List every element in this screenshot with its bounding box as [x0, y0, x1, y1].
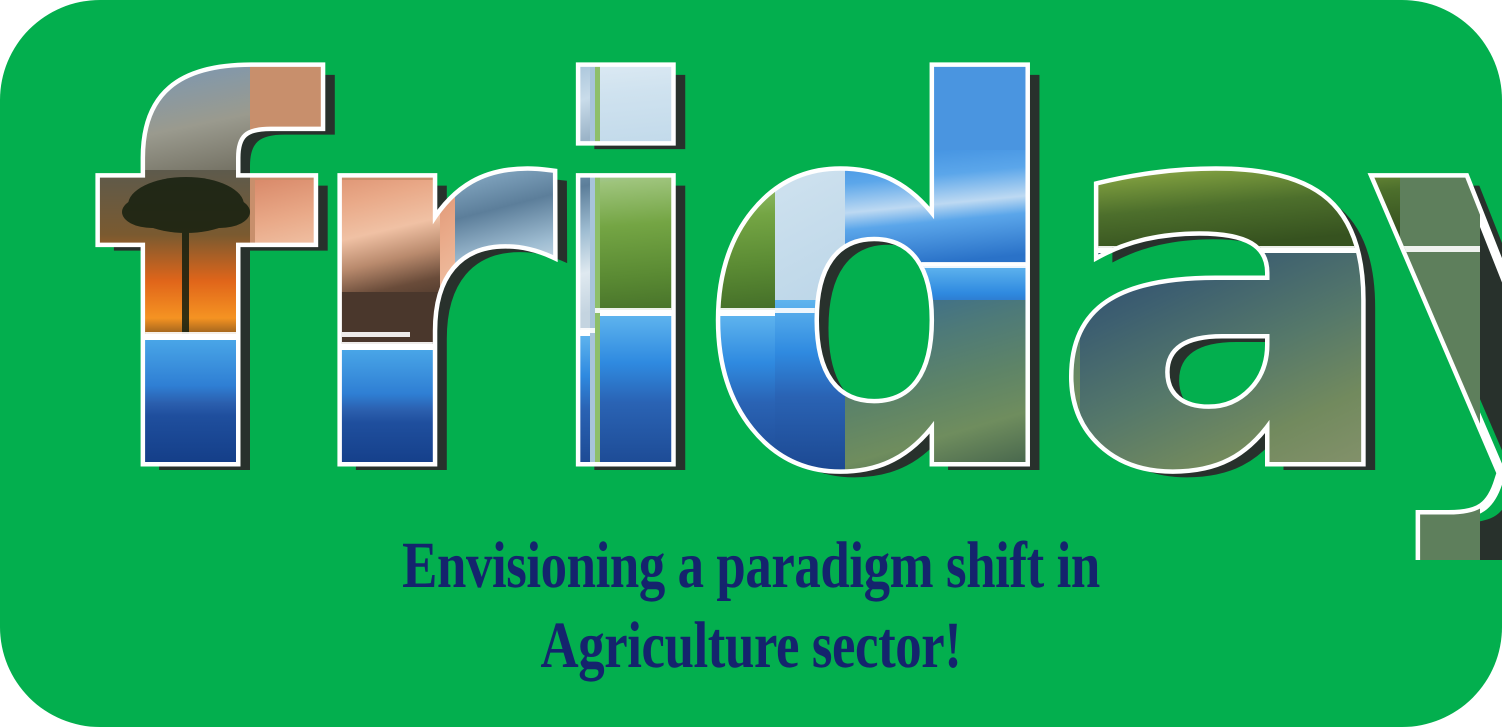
- tagline-line-1: Envisioning a paradigm shift in: [150, 528, 1352, 604]
- wordmark-photo-fill: [0, 0, 1502, 560]
- tagline-line-2: Agriculture sector!: [150, 608, 1352, 684]
- wordmark-friday: friday friday friday: [0, 0, 1502, 560]
- tagline: Envisioning a paradigm shift in Agricult…: [150, 528, 1352, 684]
- rounded-green-card: friday friday friday: [0, 0, 1502, 727]
- friday-logo-banner: friday friday friday: [0, 0, 1502, 727]
